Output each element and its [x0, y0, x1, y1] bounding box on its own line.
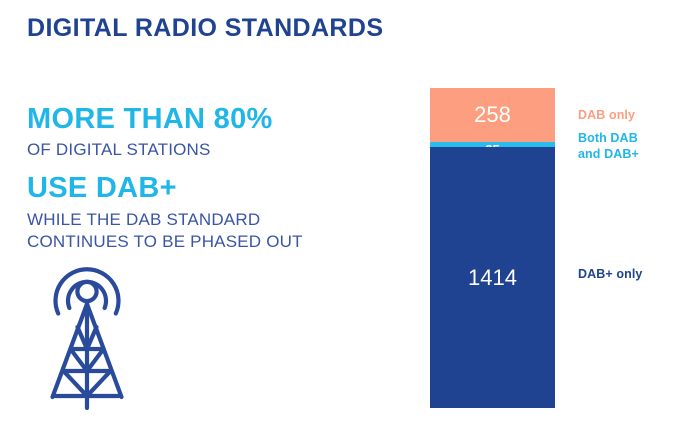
legend-item-dabplus-only: DAB+ only	[578, 267, 642, 283]
subline-secondary: WHILE THE DAB STANDARD CONTINUES TO BE P…	[27, 209, 367, 253]
bar-segment-dabplus-only[interactable]: 1414	[430, 147, 555, 408]
subline-secondary-line-1: WHILE THE DAB STANDARD	[27, 209, 367, 231]
radio-tower-icon	[28, 252, 146, 410]
infographic-root: DIGITAL RADIO STANDARDS MORE THAN 80% OF…	[0, 0, 689, 439]
headline-primary: MORE THAN 80%	[27, 104, 367, 135]
bar-value-dabplus-only: 1414	[430, 265, 555, 291]
legend-item-both-line-1: Both DAB	[578, 131, 639, 147]
legend-item-dab-only: DAB only	[578, 108, 635, 124]
bar-segment-dab-only[interactable]: 258	[430, 88, 555, 142]
subline-primary: OF DIGITAL STATIONS	[27, 139, 367, 161]
bar-value-dab-only: 258	[430, 102, 555, 128]
copy-block: MORE THAN 80% OF DIGITAL STATIONS USE DA…	[27, 104, 367, 253]
subline-secondary-line-2: CONTINUES TO BE PHASED OUT	[27, 231, 367, 253]
headline-secondary: USE DAB+	[27, 173, 367, 204]
legend-item-both-line-2: and DAB+	[578, 147, 639, 163]
legend-item-both-dab-and-dabplus: Both DAB and DAB+	[578, 131, 639, 162]
stacked-bar-chart: 258 25 1414	[430, 88, 555, 408]
page-title: DIGITAL RADIO STANDARDS	[27, 14, 383, 43]
